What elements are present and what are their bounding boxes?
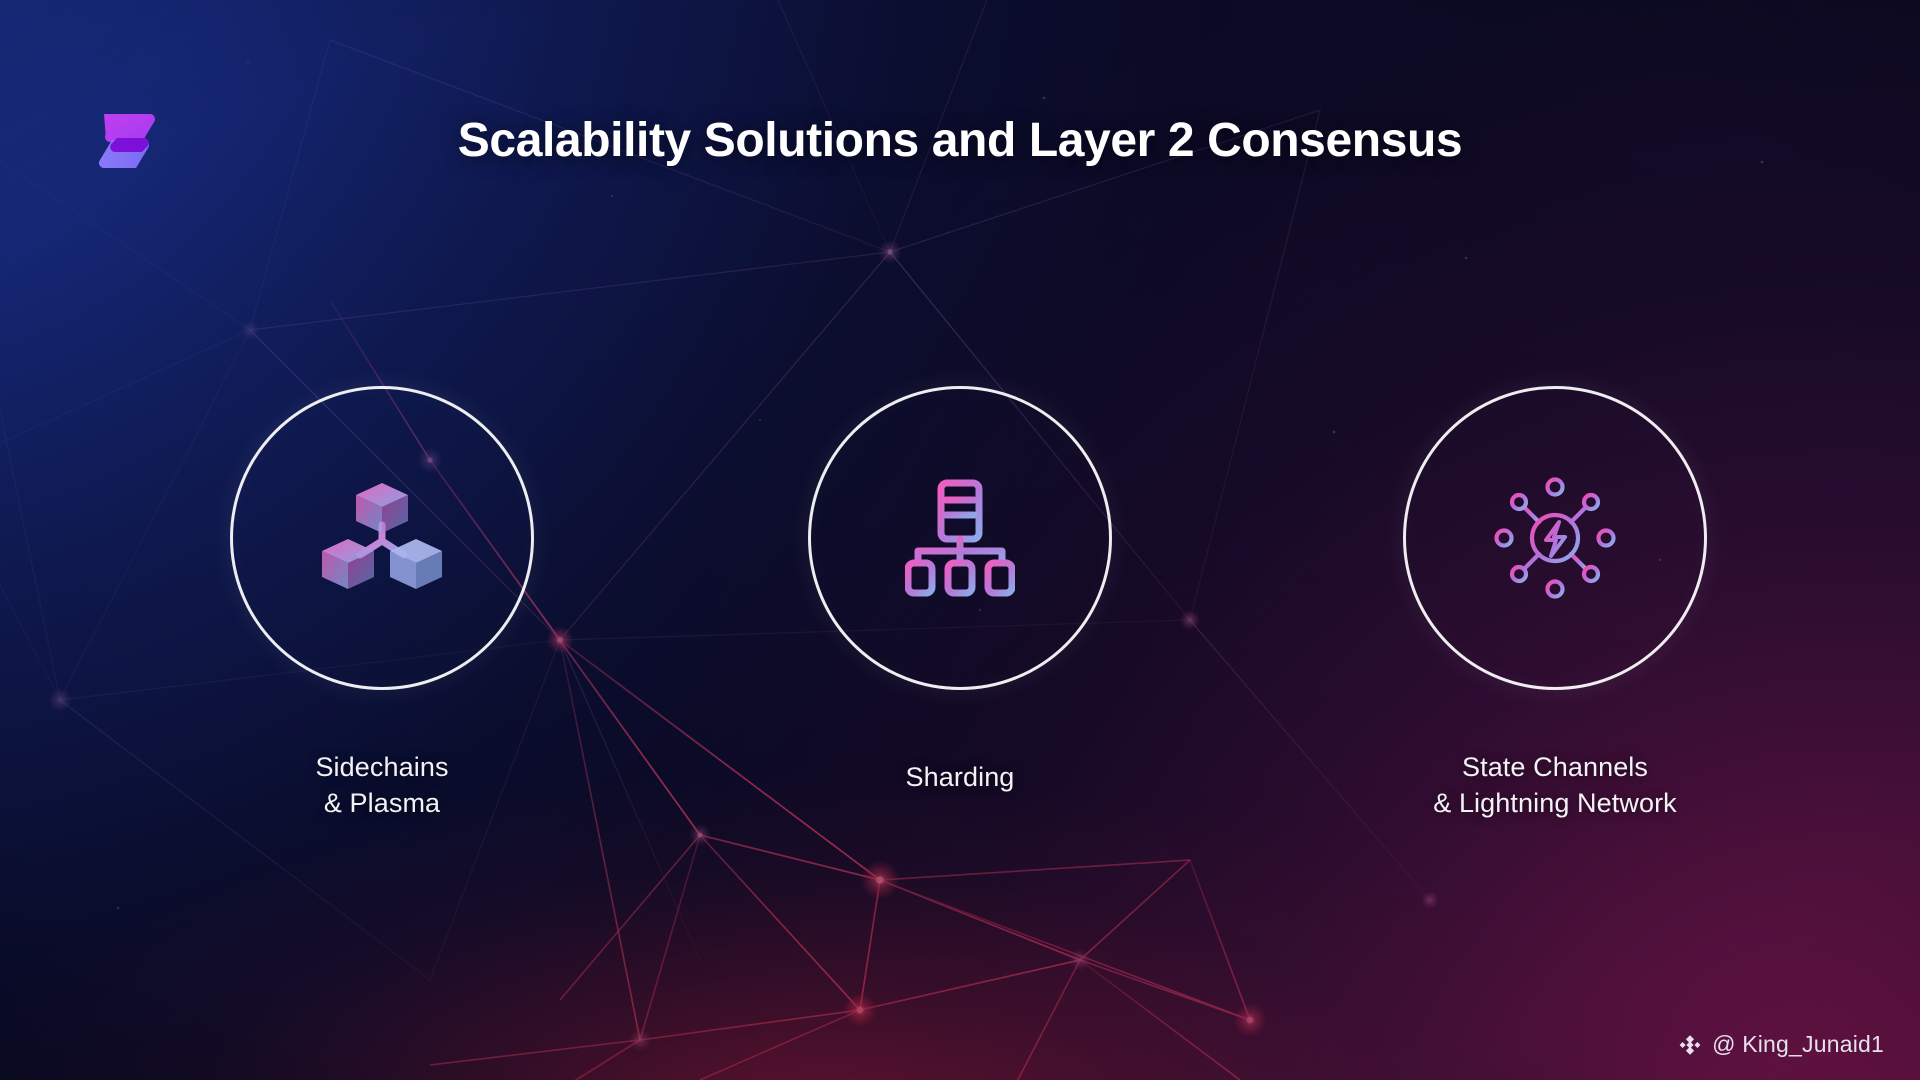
binance-diamond-icon [1677, 1032, 1703, 1058]
slide-canvas: Scalability Solutions and Layer 2 Consen… [0, 0, 1920, 1080]
watermark: @ King_Junaid1 [1677, 1031, 1884, 1058]
lightning-network-icon [1494, 477, 1616, 599]
database-sharding-icon [905, 479, 1015, 597]
icon-circle[interactable] [1403, 386, 1707, 690]
watermark-handle: @ King_Junaid1 [1712, 1031, 1884, 1058]
item-label-line1: Sharding [750, 760, 1170, 796]
item-label: State Channels & Lightning Network [1345, 750, 1765, 822]
item-label-line1: Sidechains [172, 750, 592, 786]
icon-circle[interactable] [230, 386, 534, 690]
items-row: Sidechains & Plasma [0, 0, 1920, 1080]
item-label-line2: & Lightning Network [1345, 786, 1765, 822]
item-sharding[interactable]: Sharding [750, 386, 1170, 796]
item-label: Sidechains & Plasma [172, 750, 592, 822]
icon-circle[interactable] [808, 386, 1112, 690]
item-label: Sharding [750, 760, 1170, 796]
blockchain-cubes-icon [320, 479, 444, 597]
item-state-channels-lightning[interactable]: State Channels & Lightning Network [1345, 386, 1765, 822]
item-label-line2: & Plasma [172, 786, 592, 822]
item-label-line1: State Channels [1345, 750, 1765, 786]
item-sidechains-plasma[interactable]: Sidechains & Plasma [172, 386, 592, 822]
